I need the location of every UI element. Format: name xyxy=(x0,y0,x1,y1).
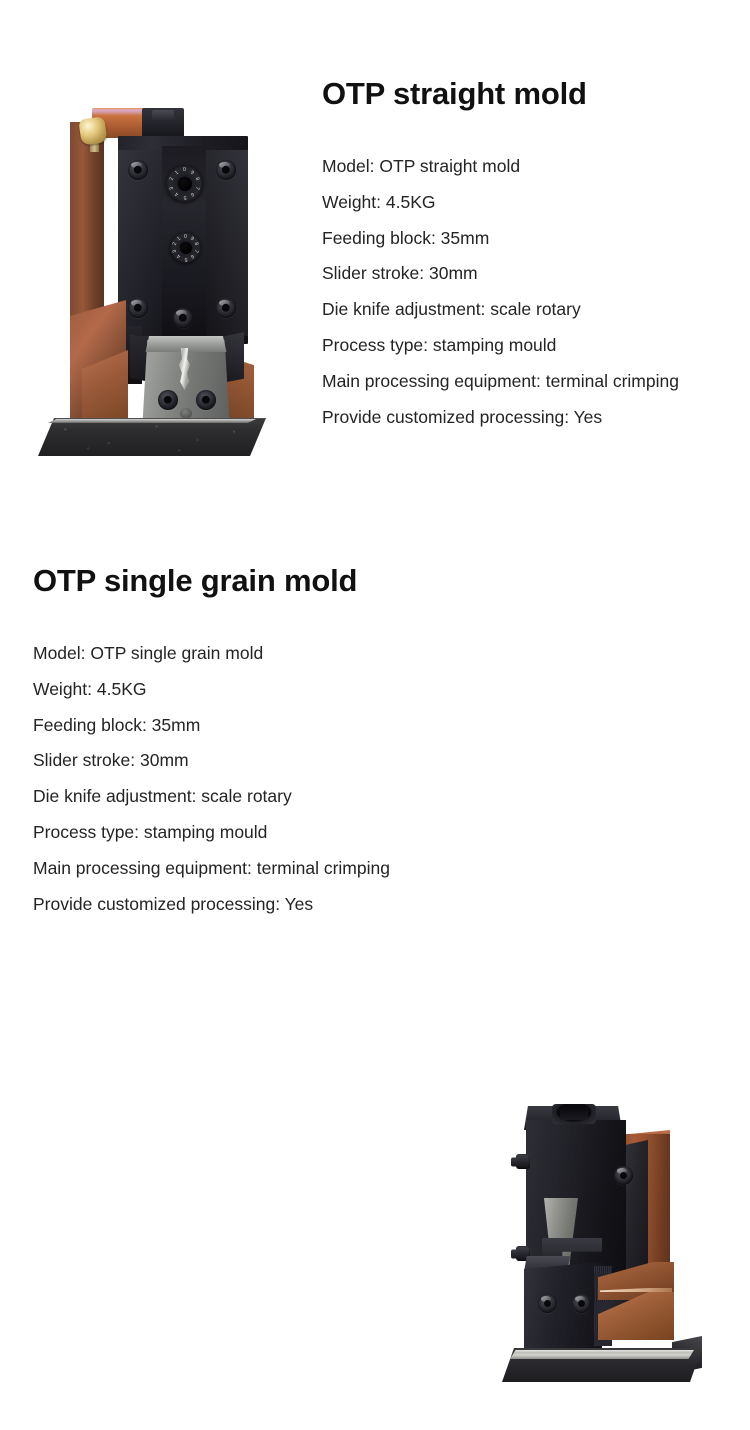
spec-line: Feeding block: 35mm xyxy=(33,708,390,744)
top-cap-recess xyxy=(152,110,174,120)
spec-text-column: OTP single grain mold Model: OTP single … xyxy=(33,565,390,922)
spec-line: Weight: 4.5KG xyxy=(33,672,390,708)
product-section-straight-mold: 0987654321 0987654321 xyxy=(0,0,750,510)
product-section-single-grain-mold: OTP single grain mold Model: OTP single … xyxy=(0,510,750,931)
product-image-single-grain-mold xyxy=(490,1050,720,1430)
spec-list-straight-mold: Model: OTP straight moldWeight: 4.5KGFee… xyxy=(322,149,679,435)
base-plate-machined-lip xyxy=(510,1350,694,1359)
hex-screw-icon xyxy=(128,298,148,318)
spec-line: Main processing equipment: terminal crim… xyxy=(322,364,679,400)
hex-screw-icon xyxy=(216,160,236,180)
spec-line: Weight: 4.5KG xyxy=(322,185,679,221)
dial-hub xyxy=(180,242,192,254)
page-title: OTP straight mold xyxy=(322,78,679,109)
hex-screw-icon xyxy=(572,1294,591,1313)
product-image-straight-mold: 0987654321 0987654321 xyxy=(30,50,280,490)
spec-line: Model: OTP straight mold xyxy=(322,149,679,185)
spec-line: Provide customized processing: Yes xyxy=(322,400,679,436)
spec-line: Slider stroke: 30mm xyxy=(322,256,679,292)
hex-screw-icon xyxy=(538,1294,557,1313)
product-spec-page: 0987654321 0987654321 xyxy=(0,0,750,931)
die-top-groove-inner xyxy=(560,1108,588,1120)
spec-text-column: OTP straight mold Model: OTP straight mo… xyxy=(322,78,679,435)
hex-bolt-icon xyxy=(78,116,107,145)
rotary-scale-dial-upper: 0987654321 xyxy=(166,165,203,202)
spec-line: Die knife adjustment: scale rotary xyxy=(33,779,390,815)
spec-line: Main processing equipment: terminal crim… xyxy=(33,851,390,887)
spec-line: Provide customized processing: Yes xyxy=(33,887,390,923)
hex-screw-icon xyxy=(173,308,193,328)
spec-line: Model: OTP single grain mold xyxy=(33,636,390,672)
anvil-bore-right xyxy=(196,390,216,410)
spec-line: Die knife adjustment: scale rotary xyxy=(322,292,679,328)
hex-screw-icon xyxy=(128,160,148,180)
hex-screw-icon xyxy=(614,1166,633,1185)
dial-hub xyxy=(178,177,192,191)
spec-line: Feeding block: 35mm xyxy=(322,221,679,257)
base-plate-texture xyxy=(38,418,266,456)
spec-line: Process type: stamping mould xyxy=(33,815,390,851)
base-plate-machined-lip xyxy=(48,419,256,423)
spec-line: Process type: stamping mould xyxy=(322,328,679,364)
anvil-bore-left xyxy=(158,390,178,410)
spec-line: Slider stroke: 30mm xyxy=(33,743,390,779)
side-hex-screw-icon xyxy=(516,1154,530,1169)
hex-screw-icon xyxy=(216,298,236,318)
rotary-scale-dial-lower: 0987654321 xyxy=(170,232,201,263)
spec-list-single-grain-mold: Model: OTP single grain moldWeight: 4.5K… xyxy=(33,636,390,922)
page-title: OTP single grain mold xyxy=(33,565,390,596)
anvil-locating-pin xyxy=(180,408,192,419)
